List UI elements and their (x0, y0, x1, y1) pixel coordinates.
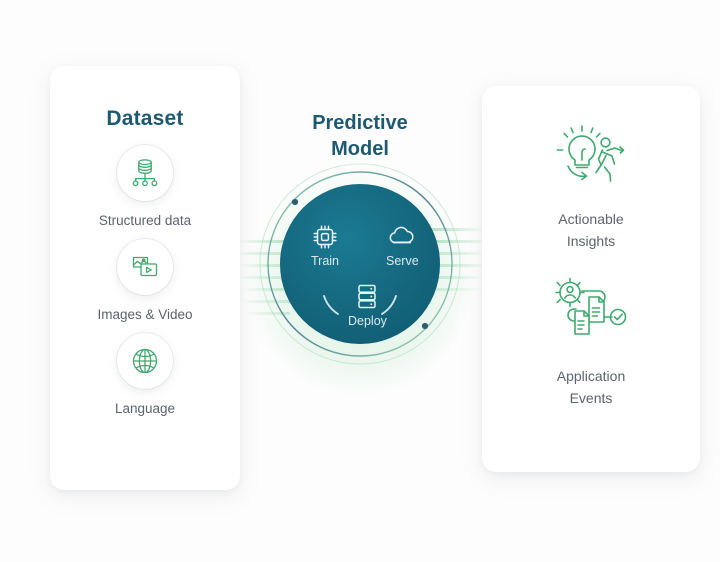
server-stack-icon (352, 280, 382, 312)
page-title-dataset: Dataset (50, 107, 240, 131)
dataset-item-list: Structured data Images & Video (50, 145, 240, 419)
hub-node-label: Deploy (348, 314, 387, 328)
cpu-chip-icon (310, 222, 340, 252)
gear-documents-check-icon (548, 277, 634, 349)
list-item-label: Application Events (557, 365, 626, 410)
hub-node-label: Serve (386, 254, 419, 268)
outcome-label-line2: Events (570, 390, 613, 406)
database-hierarchy-icon (117, 145, 173, 201)
outcome-label-line1: Application (557, 368, 626, 384)
list-item-label: Structured data (99, 212, 191, 230)
predictive-model-hub: Predictive Model (238, 110, 482, 370)
dataset-panel: Dataset (50, 66, 240, 490)
hub-title-line2: Model (331, 138, 389, 160)
images-video-icon (117, 239, 173, 295)
list-item-language[interactable]: Language (50, 333, 240, 418)
list-item-label: Images & Video (97, 306, 192, 324)
diagram-canvas: Dataset (0, 0, 720, 562)
hub-node-label: Train (311, 254, 339, 268)
list-item-structured-data[interactable]: Structured data (50, 145, 240, 230)
outcomes-panel: Actionable Insights (482, 86, 700, 472)
globe-icon (117, 333, 173, 389)
lightbulb-runner-icon (548, 120, 634, 192)
outcome-item-list: Actionable Insights (482, 86, 700, 410)
outcome-label-line1: Actionable (558, 211, 623, 227)
hub-title-line1: Predictive (312, 112, 408, 134)
hub-node-train[interactable]: Train (310, 222, 340, 268)
hub-graphic (238, 158, 482, 370)
list-item-actionable-insights[interactable]: Actionable Insights (482, 120, 700, 253)
hub-node-deploy[interactable]: Deploy (348, 280, 387, 328)
list-item-images-video[interactable]: Images & Video (50, 239, 240, 324)
list-item-label: Language (115, 400, 175, 418)
page-title-predictive-model: Predictive Model (238, 110, 482, 162)
hub-node-serve[interactable]: Serve (386, 222, 419, 268)
cloud-icon (386, 222, 418, 252)
outcome-label-line2: Insights (567, 233, 615, 249)
list-item-label: Actionable Insights (558, 208, 623, 253)
list-item-application-events[interactable]: Application Events (482, 277, 700, 410)
